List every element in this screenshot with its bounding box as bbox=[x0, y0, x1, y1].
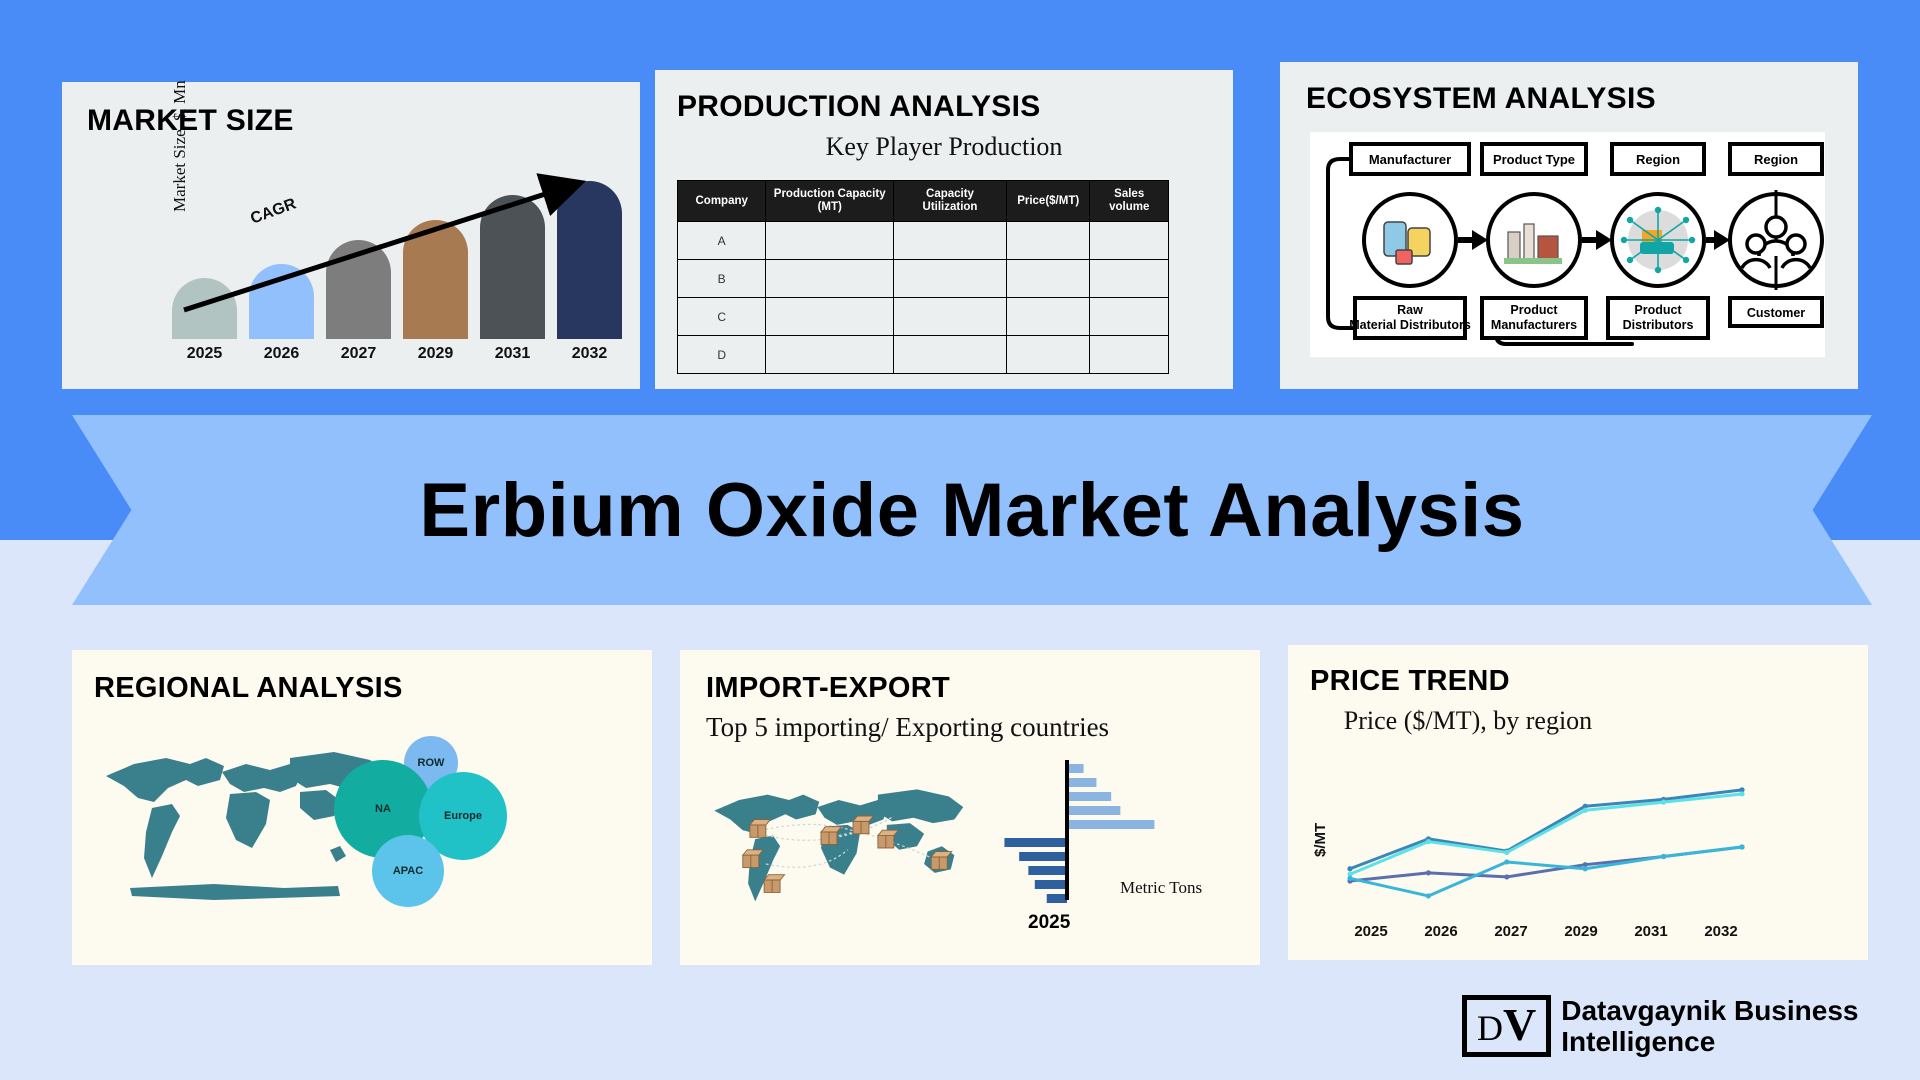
import-bar bbox=[1067, 792, 1111, 801]
price-point bbox=[1504, 850, 1509, 855]
svg-text:Manufacturer: Manufacturer bbox=[1369, 152, 1451, 167]
ecosystem-heading: ECOSYSTEM ANALYSIS bbox=[1306, 82, 1656, 116]
price-point bbox=[1661, 854, 1666, 859]
svg-text:Raw: Raw bbox=[1397, 303, 1423, 317]
price-y-axis-label: $/MT bbox=[1312, 823, 1329, 857]
ecosystem-bottom-label: Customer bbox=[1730, 298, 1822, 326]
table-cell bbox=[1006, 260, 1089, 298]
import-export-heading: IMPORT-EXPORT bbox=[706, 672, 950, 705]
ecosystem-diagram: ManufacturerRawMaterial DistributorsProd… bbox=[1310, 132, 1825, 357]
svg-text:Material Distributors: Material Distributors bbox=[1349, 318, 1471, 332]
table-cell bbox=[1090, 222, 1169, 260]
price-point bbox=[1739, 791, 1744, 796]
shipping-box-icon bbox=[750, 820, 770, 838]
price-year-label: 2025 bbox=[1336, 923, 1406, 940]
svg-text:Region: Region bbox=[1636, 152, 1680, 167]
distribution-network-icon bbox=[1612, 194, 1704, 286]
flow-arrow-icon bbox=[1706, 230, 1730, 250]
import-bar bbox=[1067, 820, 1154, 829]
table-column-header: Capacity Utilization bbox=[894, 181, 1007, 222]
price-point bbox=[1661, 800, 1666, 805]
ecosystem-flow-svg: ManufacturerRawMaterial DistributorsProd… bbox=[1310, 132, 1825, 357]
panel-market-size: MARKET SIZE Market Size, $, Mn 202520262… bbox=[62, 82, 640, 389]
panel-import-export: IMPORT-EXPORT Top 5 importing/ Exporting… bbox=[680, 650, 1260, 965]
price-year-label: 2031 bbox=[1616, 923, 1686, 940]
svg-text:Product Type: Product Type bbox=[1493, 152, 1575, 167]
table-cell bbox=[894, 222, 1007, 260]
import-bar bbox=[1067, 764, 1084, 773]
export-bar bbox=[1047, 894, 1067, 903]
table-row: D bbox=[678, 336, 1169, 374]
raw-materials-icon bbox=[1364, 194, 1456, 286]
brand-logo: DV Datavgaynik Business Intelligence bbox=[1462, 995, 1901, 1058]
table-cell bbox=[1090, 260, 1169, 298]
svg-text:Distributors: Distributors bbox=[1623, 318, 1694, 332]
import-export-subheading: Top 5 importing/ Exporting countries bbox=[706, 712, 1109, 743]
price-year-label: 2026 bbox=[1406, 923, 1476, 940]
ecosystem-top-label: Region bbox=[1730, 144, 1822, 174]
table-column-header: Production Capacity (MT) bbox=[766, 181, 894, 222]
table-cell bbox=[1090, 298, 1169, 336]
ecosystem-bottom-label: ProductDistributors bbox=[1608, 298, 1708, 338]
price-line-region-2 bbox=[1350, 794, 1742, 874]
price-point bbox=[1347, 876, 1352, 881]
table-body: ABCD bbox=[678, 222, 1169, 374]
trade-map-icon bbox=[702, 768, 972, 928]
table-cell: A bbox=[678, 222, 766, 260]
customers-icon bbox=[1730, 190, 1822, 290]
panel-regional-analysis: REGIONAL ANALYSIS ROWNAEuropeAPAC bbox=[72, 650, 652, 965]
import-bar bbox=[1067, 806, 1120, 815]
svg-text:Customer: Customer bbox=[1747, 306, 1805, 320]
table-column-header: Price($/MT) bbox=[1006, 181, 1089, 222]
price-point bbox=[1426, 839, 1431, 844]
price-year-label: 2032 bbox=[1686, 923, 1756, 940]
table-header-row: CompanyProduction Capacity (MT)Capacity … bbox=[678, 181, 1169, 222]
export-bar bbox=[1028, 866, 1067, 875]
table-cell bbox=[894, 298, 1007, 336]
table-cell bbox=[766, 298, 894, 336]
export-bar bbox=[1035, 880, 1067, 889]
infographic-canvas: MARKET SIZE Market Size, $, Mn 202520262… bbox=[0, 0, 1920, 1080]
price-point bbox=[1347, 866, 1352, 871]
table-row: A bbox=[678, 222, 1169, 260]
price-point bbox=[1583, 866, 1588, 871]
ecosystem-top-label: Region bbox=[1612, 144, 1704, 174]
price-trend-subheading: Price ($/MT), by region bbox=[1338, 705, 1598, 736]
table-cell bbox=[1006, 222, 1089, 260]
ecosystem-top-label: Manufacturer bbox=[1351, 144, 1469, 174]
ecosystem-bottom-label: RawMaterial Distributors bbox=[1349, 298, 1471, 338]
metric-tons-label: Metric Tons bbox=[1120, 878, 1202, 898]
svg-text:Manufacturers: Manufacturers bbox=[1491, 318, 1577, 332]
flow-arrow-icon bbox=[1458, 230, 1488, 250]
price-line-region-1 bbox=[1350, 790, 1742, 869]
price-point bbox=[1739, 844, 1744, 849]
flow-arrow-icon bbox=[1582, 230, 1612, 250]
factory-icon bbox=[1488, 194, 1580, 286]
regional-heading: REGIONAL ANALYSIS bbox=[94, 672, 403, 705]
market-size-chart: 202520262027202920312032 bbox=[172, 170, 622, 365]
key-player-production-table: CompanyProduction Capacity (MT)Capacity … bbox=[677, 180, 1169, 374]
table-cell: B bbox=[678, 260, 766, 298]
table-cell bbox=[894, 260, 1007, 298]
svg-text:Product: Product bbox=[1510, 303, 1558, 317]
price-point bbox=[1426, 870, 1431, 875]
ecosystem-top-label: Product Type bbox=[1482, 144, 1586, 174]
table-cell bbox=[1006, 336, 1089, 374]
panel-ecosystem-analysis: ECOSYSTEM ANALYSIS ManufacturerRawMateri… bbox=[1280, 62, 1858, 389]
panel-production-analysis: PRODUCTION ANALYSIS Key Player Productio… bbox=[655, 70, 1233, 389]
ecosystem-bottom-label: ProductManufacturers bbox=[1482, 298, 1586, 338]
table-cell bbox=[766, 260, 894, 298]
logo-company-name: Datavgaynik Business Intelligence bbox=[1561, 995, 1901, 1058]
table-cell bbox=[766, 222, 894, 260]
table-cell: C bbox=[678, 298, 766, 336]
price-point bbox=[1504, 859, 1509, 864]
table-column-header: Sales volume bbox=[1090, 181, 1169, 222]
table-row: C bbox=[678, 298, 1169, 336]
table-column-header: Company bbox=[678, 181, 766, 222]
production-subheading: Key Player Production bbox=[655, 132, 1233, 162]
logo-letter-v: V bbox=[1503, 999, 1536, 1050]
region-bubble-apac: APAC bbox=[372, 835, 444, 907]
price-trend-heading: PRICE TREND bbox=[1310, 665, 1510, 698]
table-cell bbox=[894, 336, 1007, 374]
price-trend-line-chart bbox=[1336, 763, 1756, 923]
logo-letter-d: D bbox=[1477, 1008, 1503, 1048]
price-trend-year-labels: 202520262027202920312032 bbox=[1336, 923, 1756, 940]
price-year-label: 2029 bbox=[1546, 923, 1616, 940]
table-cell bbox=[766, 336, 894, 374]
page-title: Erbium Oxide Market Analysis bbox=[72, 415, 1872, 605]
price-point bbox=[1583, 808, 1588, 813]
shipping-box-icon bbox=[764, 875, 784, 893]
shipping-box-icon bbox=[853, 816, 873, 834]
table-row: B bbox=[678, 260, 1169, 298]
table-cell bbox=[1090, 336, 1169, 374]
panel-price-trend: PRICE TREND Price ($/MT), by region $/MT… bbox=[1288, 645, 1868, 960]
price-point bbox=[1426, 893, 1431, 898]
svg-text:Region: Region bbox=[1754, 152, 1798, 167]
export-bar bbox=[1019, 852, 1067, 861]
price-point bbox=[1504, 874, 1509, 879]
export-bar bbox=[1004, 838, 1067, 847]
svg-text:Product: Product bbox=[1634, 303, 1682, 317]
price-year-label: 2027 bbox=[1476, 923, 1546, 940]
production-heading: PRODUCTION ANALYSIS bbox=[677, 90, 1041, 124]
logo-mark-dv: DV bbox=[1462, 995, 1551, 1057]
import-bar bbox=[1067, 778, 1096, 787]
table-cell bbox=[1006, 298, 1089, 336]
table-cell: D bbox=[678, 336, 766, 374]
import-export-year-label: 2025 bbox=[1028, 912, 1070, 934]
cagr-arrow-icon bbox=[172, 170, 622, 365]
market-size-heading: MARKET SIZE bbox=[87, 104, 294, 138]
